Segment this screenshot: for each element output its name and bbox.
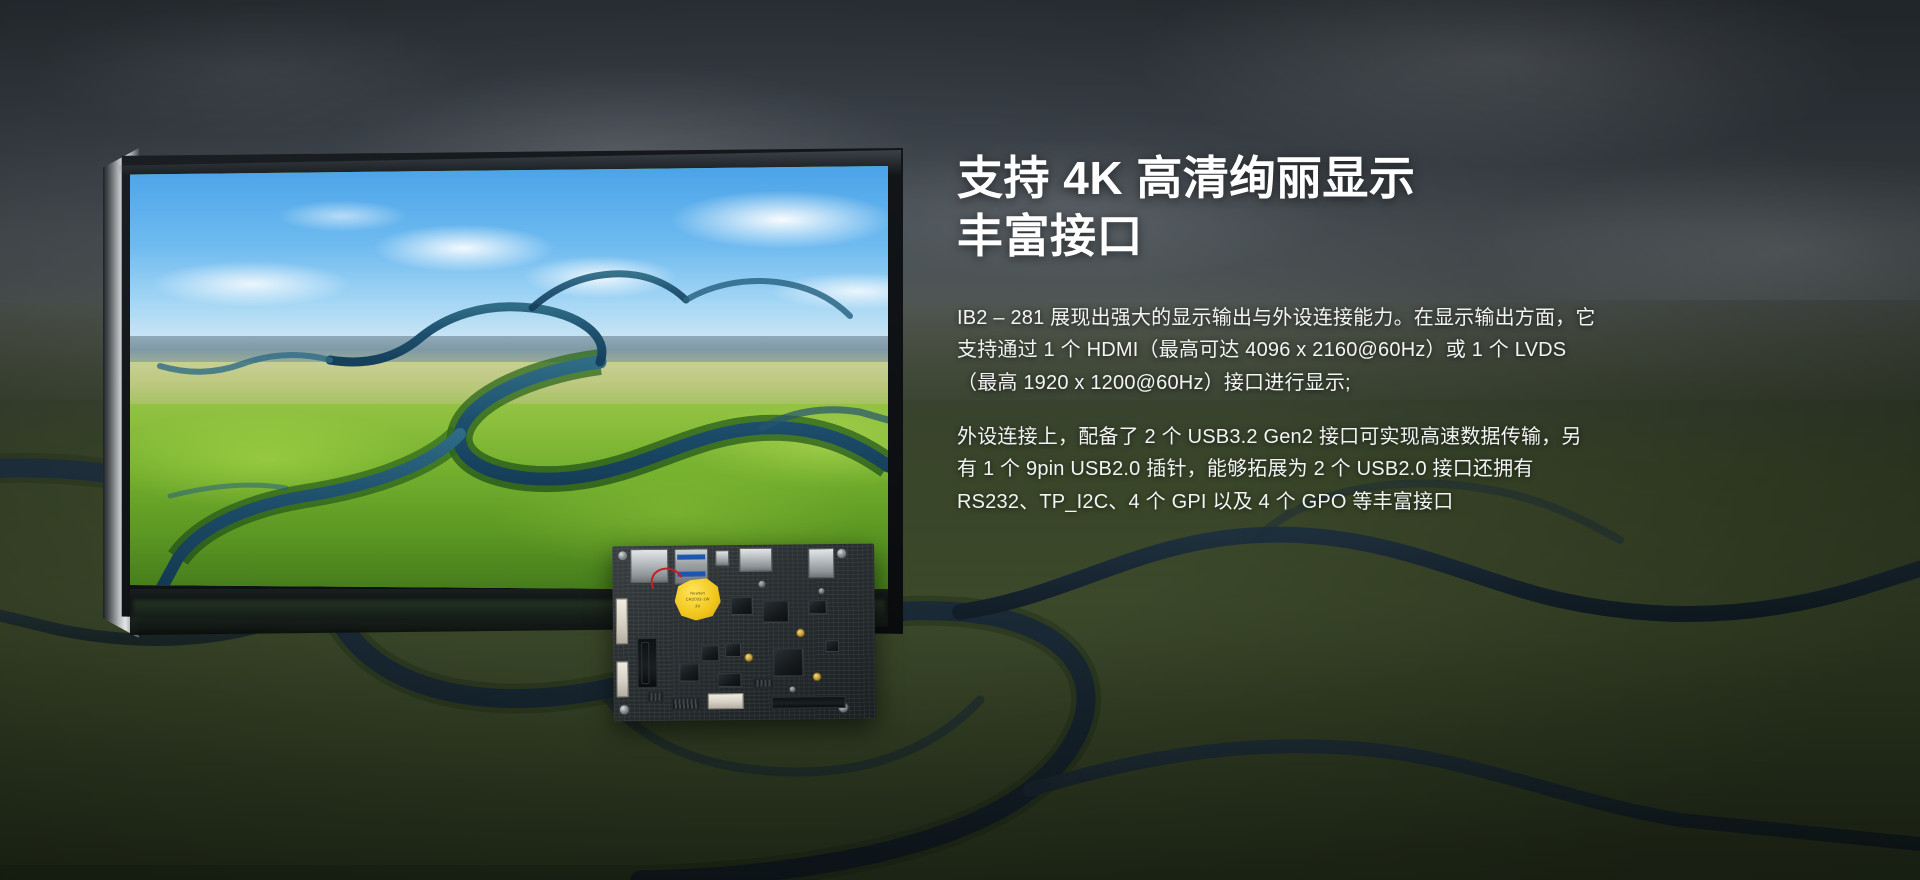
headline-line-2: 丰富接口 [957,210,1143,262]
chip-small-d [717,673,741,687]
hero-copy: 支持 4K 高清绚丽显示 丰富接口 IB2 – 281 展现出强大的显示输出与外… [957,150,1597,518]
usb3-tongue-upper [677,554,705,559]
screw-bottom-left-icon [619,704,630,715]
chip-small-c [679,663,699,681]
battery-label-line3: 3V [675,603,721,608]
battery-label-line1: Newton [675,590,721,595]
expansion-slot [772,696,846,709]
standoff-gold-right-icon [812,672,821,681]
page-title: 支持 4K 高清绚丽显示 丰富接口 [957,150,1597,266]
battery-label-line2: CR2032-1W [675,596,721,601]
chip-north [763,601,789,623]
usb20-9pin-header [708,693,744,709]
rs232-header [753,679,773,688]
capacitor-c-icon [790,686,796,692]
capacitor-a-icon [758,581,765,588]
rj45-ethernet-port [808,548,834,578]
hero-description: IB2 – 281 展现出强大的显示输出与外设连接能力。在显示输出方面，它支持通… [957,302,1597,518]
screen-shading [130,166,888,591]
capacitor-b-icon [819,588,825,594]
tv-screen-content [130,166,888,591]
chip-small-a [701,645,719,661]
hdmi-port [739,548,772,572]
chip-regulator [731,597,753,615]
lvds-connector [616,598,628,644]
motherboard-product-image: Newton CR2032-1W 3V [612,544,876,722]
paragraph-peripheral-io: 外设连接上，配备了 2 个 USB3.2 Gen2 接口可实现高速数据传输，另有… [957,421,1597,518]
hero-banner: Newton CR2032-1W 3V 支持 4K 高清绚丽显示 丰富接口 IB… [0,0,1920,880]
chip-small-e [809,600,827,614]
headline-line-1: 支持 4K 高清绚丽显示 [957,152,1415,204]
ffc-connector [616,661,628,697]
paragraph-display-output: IB2 – 281 展现出强大的显示输出与外设连接能力。在显示输出方面，它支持通… [957,302,1597,399]
standoff-gold-lower-icon [744,653,753,662]
tp-i2c-header [648,692,664,702]
screw-top-left-icon [617,550,628,561]
gpio-pin-header [672,697,700,709]
micro-connector-port [715,550,729,566]
standoff-gold-upper-icon [796,628,805,637]
screw-top-right-icon [836,548,847,559]
chip-soc [773,648,803,676]
memory-slot-inner [641,642,649,684]
chip-small-f [825,640,839,652]
chip-small-b [725,643,741,657]
